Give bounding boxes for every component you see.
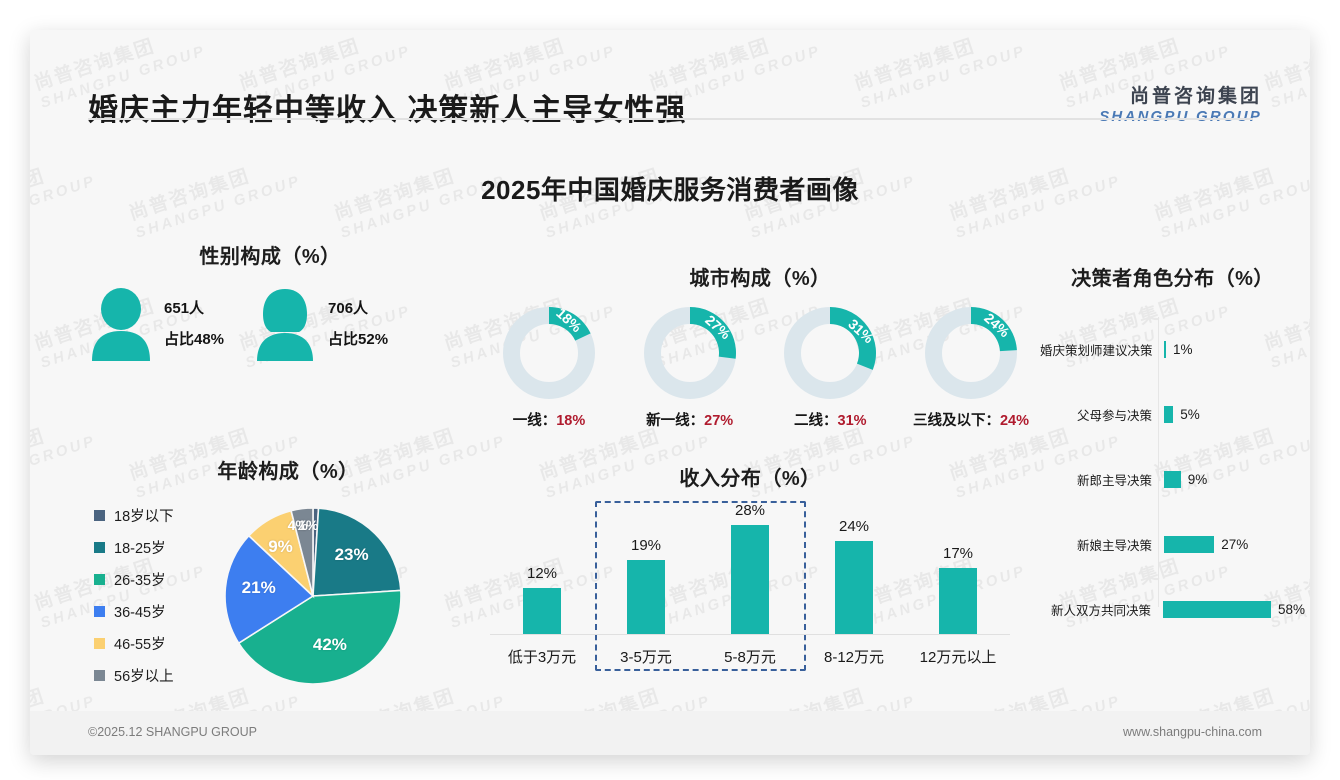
income-bar-value: 17% — [943, 545, 973, 562]
decision-bar — [1164, 341, 1166, 358]
decision-row: 新娘主导决策27% — [1040, 512, 1305, 577]
legend-label: 18-25岁 — [114, 537, 166, 558]
pie-slice-label: 42% — [313, 635, 347, 655]
gender-item-female: 706人 占比52% — [254, 287, 388, 363]
legend-swatch — [94, 574, 105, 585]
decision-value: 58% — [1278, 602, 1305, 617]
legend-label: 46-55岁 — [114, 633, 166, 654]
decision-value: 5% — [1180, 407, 1200, 422]
income-bar — [731, 525, 769, 635]
decision-bar — [1164, 406, 1173, 423]
age-legend: 18岁以下18-25岁26-35岁36-45岁46-55岁56岁以上 — [88, 494, 219, 697]
decision-value: 27% — [1221, 537, 1248, 552]
legend-item: 18岁以下 — [94, 505, 219, 526]
copyright-text: ©2025.12 SHANGPU GROUP — [88, 725, 257, 739]
male-share: 占比48% — [164, 325, 224, 356]
city-value: 27% — [704, 413, 733, 429]
income-plot: 12%19%28%24%17% 低于3万元3-5万元5-8万元8-12万元12万… — [490, 497, 1010, 667]
income-bar-value: 12% — [527, 565, 557, 582]
city-donut-row: 18%一线：18%27%新一线：27%31%二线：31%24%三线及以下：24% — [480, 307, 1040, 430]
legend-label: 26-35岁 — [114, 569, 166, 590]
female-share: 占比52% — [328, 325, 388, 356]
pie-slice-label: 21% — [242, 578, 276, 598]
legend-label: 18岁以下 — [114, 505, 174, 526]
decision-chart: 婚庆策划师建议决策1%父母参与决策5%新郎主导决策9%新娘主导决策27%新人双方… — [1040, 313, 1305, 642]
income-category-label: 5-8万元 — [698, 646, 802, 667]
decision-title: 决策者角色分布（%） — [1040, 262, 1305, 291]
female-count: 706人 — [328, 294, 388, 325]
city-value: 24% — [1000, 413, 1029, 429]
decision-section: 决策者角色分布（%） 婚庆策划师建议决策1%父母参与决策5%新郎主导决策9%新娘… — [1040, 262, 1305, 642]
decision-row: 新人双方共同决策58% — [1040, 577, 1305, 642]
decision-label: 新郎主导决策 — [1040, 470, 1158, 489]
slide-card: 尚普咨询集团SHANGPU GROUP尚普咨询集团SHANGPU GROUP尚普… — [30, 30, 1310, 755]
decision-label: 父母参与决策 — [1040, 405, 1158, 424]
decision-label: 婚庆策划师建议决策 — [1040, 340, 1158, 359]
age-pie-chart: 1%23%42%21%9%4% — [223, 506, 403, 686]
income-bar-group: 17% — [906, 497, 1010, 635]
decision-label: 新娘主导决策 — [1040, 535, 1158, 554]
decision-value: 9% — [1188, 472, 1208, 487]
decision-value: 1% — [1173, 342, 1193, 357]
gender-item-male: 651人 占比48% — [90, 287, 224, 363]
decision-row: 新郎主导决策9% — [1040, 447, 1305, 512]
income-bars: 12%19%28%24%17% — [490, 497, 1010, 635]
city-donut-3: 24%三线及以下：24% — [908, 307, 1034, 430]
female-figure-icon — [254, 287, 316, 363]
website-url[interactable]: www.shangpu-china.com — [1123, 725, 1262, 739]
income-bar-group: 24% — [802, 497, 906, 635]
income-bar-group: 28% — [698, 497, 802, 635]
legend-item: 46-55岁 — [94, 633, 219, 654]
legend-item: 18-25岁 — [94, 537, 219, 558]
decision-row: 婚庆策划师建议决策1% — [1040, 317, 1305, 382]
age-section: 年龄构成（%） 18岁以下18-25岁26-35岁36-45岁46-55岁56岁… — [88, 455, 488, 697]
decision-bar — [1164, 471, 1181, 488]
city-donut-2: 31%二线：31% — [767, 307, 893, 430]
city-value: 18% — [556, 413, 585, 429]
female-stats: 706人 占比52% — [328, 294, 388, 356]
decision-bar — [1163, 601, 1271, 618]
slide-header: 婚庆主力年轻中等收入 决策新人主导女性强 尚普咨询集团 SHANGPU GROU… — [30, 30, 1310, 120]
age-title: 年龄构成（%） — [88, 455, 488, 484]
income-category-label: 低于3万元 — [490, 646, 594, 667]
legend-swatch — [94, 638, 105, 649]
male-stats: 651人 占比48% — [164, 294, 224, 356]
decision-bar — [1164, 536, 1214, 553]
pie-slice-label: 23% — [335, 545, 369, 565]
chart-subtitle: 2025年中国婚庆服务消费者画像 — [30, 170, 1310, 207]
city-caption: 新一线：27% — [627, 409, 753, 430]
legend-swatch — [94, 670, 105, 681]
income-bar — [627, 560, 665, 635]
city-donut-0: 18%一线：18% — [486, 307, 612, 430]
slide-footer: ©2025.12 SHANGPU GROUP www.shangpu-china… — [30, 711, 1310, 755]
income-bar-group: 12% — [490, 497, 594, 635]
logo-english: SHANGPU GROUP — [1099, 108, 1262, 125]
pie-slice-label: 9% — [268, 537, 293, 557]
city-value: 31% — [838, 413, 867, 429]
income-category-label: 12万元以上 — [906, 646, 1010, 667]
legend-label: 56岁以上 — [114, 665, 174, 686]
header-divider — [88, 118, 1253, 120]
city-caption: 三线及以下：24% — [908, 409, 1034, 430]
income-bar — [835, 541, 873, 635]
city-section: 城市构成（%） 18%一线：18%27%新一线：27%31%二线：31%24%三… — [480, 262, 1040, 430]
legend-swatch — [94, 510, 105, 521]
income-category-label: 3-5万元 — [594, 646, 698, 667]
income-baseline — [490, 634, 1010, 635]
income-bar-value: 28% — [735, 502, 765, 519]
income-bar-value: 24% — [839, 518, 869, 535]
gender-title: 性别构成（%） — [90, 240, 450, 269]
income-bar — [939, 568, 977, 635]
legend-swatch — [94, 606, 105, 617]
city-title: 城市构成（%） — [480, 262, 1040, 291]
logo-chinese: 尚普咨询集团 — [1099, 86, 1262, 108]
decision-row: 父母参与决策5% — [1040, 382, 1305, 447]
income-categories: 低于3万元3-5万元5-8万元8-12万元12万元以上 — [490, 646, 1010, 667]
male-count: 651人 — [164, 294, 224, 325]
income-bar — [523, 588, 561, 635]
decision-axis-line — [1158, 317, 1159, 607]
legend-item: 26-35岁 — [94, 569, 219, 590]
legend-item: 56岁以上 — [94, 665, 219, 686]
pie-slice-label: 4% — [288, 517, 308, 533]
legend-label: 36-45岁 — [114, 601, 166, 622]
male-figure-icon — [90, 287, 152, 363]
decision-label: 新人双方共同决策 — [1040, 600, 1157, 619]
income-section: 收入分布（%） 12%19%28%24%17% 低于3万元3-5万元5-8万元8… — [490, 462, 1010, 667]
income-bar-value: 19% — [631, 537, 661, 554]
city-caption: 一线：18% — [486, 409, 612, 430]
city-donut-1: 27%新一线：27% — [627, 307, 753, 430]
income-bar-group: 19% — [594, 497, 698, 635]
city-caption: 二线：31% — [767, 409, 893, 430]
gender-section: 性别构成（%） 651人 占比48% 706人 占比5 — [90, 240, 450, 363]
legend-swatch — [94, 542, 105, 553]
legend-item: 36-45岁 — [94, 601, 219, 622]
page-title: 婚庆主力年轻中等收入 决策新人主导女性强 — [88, 85, 686, 129]
income-category-label: 8-12万元 — [802, 646, 906, 667]
income-title: 收入分布（%） — [490, 462, 1010, 491]
